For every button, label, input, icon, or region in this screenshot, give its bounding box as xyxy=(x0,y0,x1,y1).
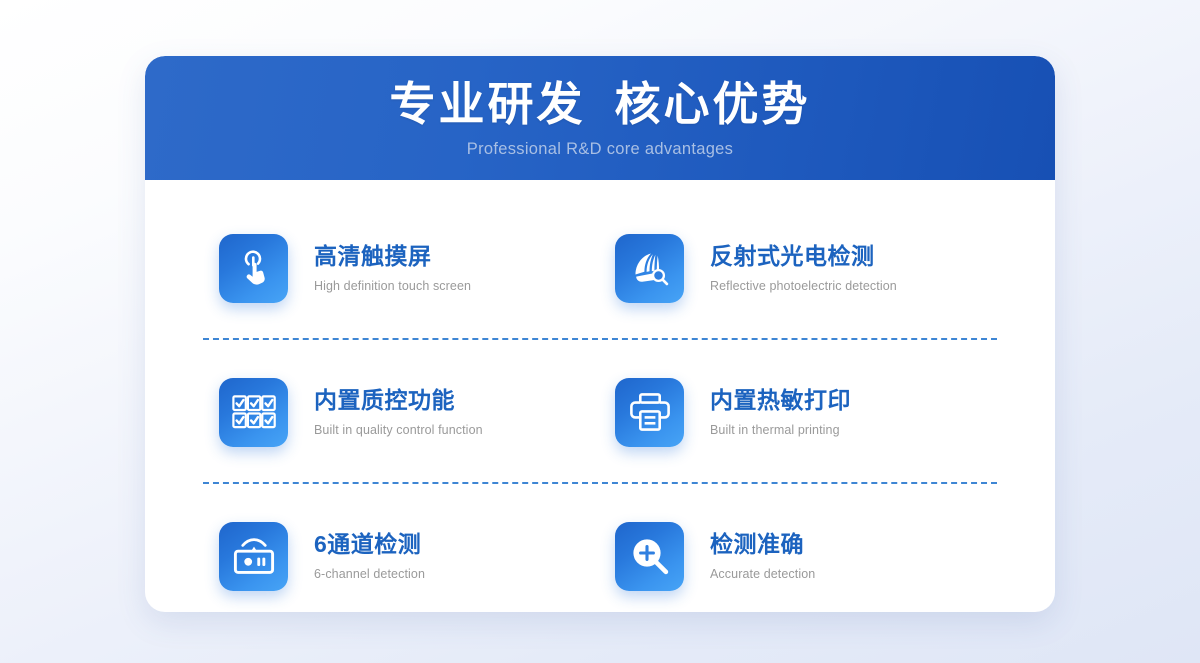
feature-item-quality-control[interactable]: 内置质控功能 Built in quality control function xyxy=(203,378,600,447)
thermal-printer-icon xyxy=(615,378,684,447)
feature-row-1: 高清触摸屏 High definition touch screen xyxy=(203,198,997,338)
feature-item-accurate-detection[interactable]: 检测准确 Accurate detection xyxy=(600,522,997,591)
page-root: 专业研发 核心优势 Professional R&D core advantag… xyxy=(0,0,1200,663)
features-grid: 高清触摸屏 High definition touch screen xyxy=(145,180,1055,612)
zoom-in-magnifier-icon xyxy=(615,522,684,591)
feature-item-reflective-photoelectric[interactable]: 反射式光电检测 Reflective photoelectric detecti… xyxy=(600,234,997,303)
feature-labels: 内置热敏打印 Built in thermal printing xyxy=(710,387,851,437)
feature-item-six-channel[interactable]: 6通道检测 6-channel detection xyxy=(203,522,600,591)
row-divider-1 xyxy=(203,338,997,340)
page-subtitle: Professional R&D core advantages xyxy=(145,133,1055,159)
reflective-photoelectric-icon xyxy=(615,234,684,303)
page-title: 专业研发 核心优势 xyxy=(145,56,1055,133)
row-divider-2 xyxy=(203,482,997,484)
feature-title: 高清触摸屏 xyxy=(314,243,471,270)
six-channel-device-icon xyxy=(219,522,288,591)
card-header: 专业研发 核心优势 Professional R&D core advantag… xyxy=(145,56,1055,180)
feature-row-3: 6通道检测 6-channel detection xyxy=(203,486,997,612)
feature-row-2: 内置质控功能 Built in quality control function xyxy=(203,342,997,482)
feature-title: 反射式光电检测 xyxy=(710,243,897,270)
feature-title: 内置质控功能 xyxy=(314,387,483,414)
feature-labels: 内置质控功能 Built in quality control function xyxy=(314,387,483,437)
feature-labels: 检测准确 Accurate detection xyxy=(710,531,815,581)
quality-control-grid-icon xyxy=(219,378,288,447)
feature-subtitle: Accurate detection xyxy=(710,567,815,581)
feature-item-thermal-printer[interactable]: 内置热敏打印 Built in thermal printing xyxy=(600,378,997,447)
advantages-card: 专业研发 核心优势 Professional R&D core advantag… xyxy=(145,56,1055,612)
feature-title: 内置热敏打印 xyxy=(710,387,851,414)
feature-subtitle: High definition touch screen xyxy=(314,279,471,293)
touch-screen-icon xyxy=(219,234,288,303)
feature-item-touch-screen[interactable]: 高清触摸屏 High definition touch screen xyxy=(203,234,600,303)
feature-title: 检测准确 xyxy=(710,531,815,558)
feature-subtitle: Built in quality control function xyxy=(314,423,483,437)
feature-subtitle: Reflective photoelectric detection xyxy=(710,279,897,293)
feature-labels: 6通道检测 6-channel detection xyxy=(314,531,425,581)
feature-subtitle: Built in thermal printing xyxy=(710,423,851,437)
feature-labels: 高清触摸屏 High definition touch screen xyxy=(314,243,471,293)
feature-labels: 反射式光电检测 Reflective photoelectric detecti… xyxy=(710,243,897,293)
feature-title: 6通道检测 xyxy=(314,531,425,558)
feature-subtitle: 6-channel detection xyxy=(314,567,425,581)
